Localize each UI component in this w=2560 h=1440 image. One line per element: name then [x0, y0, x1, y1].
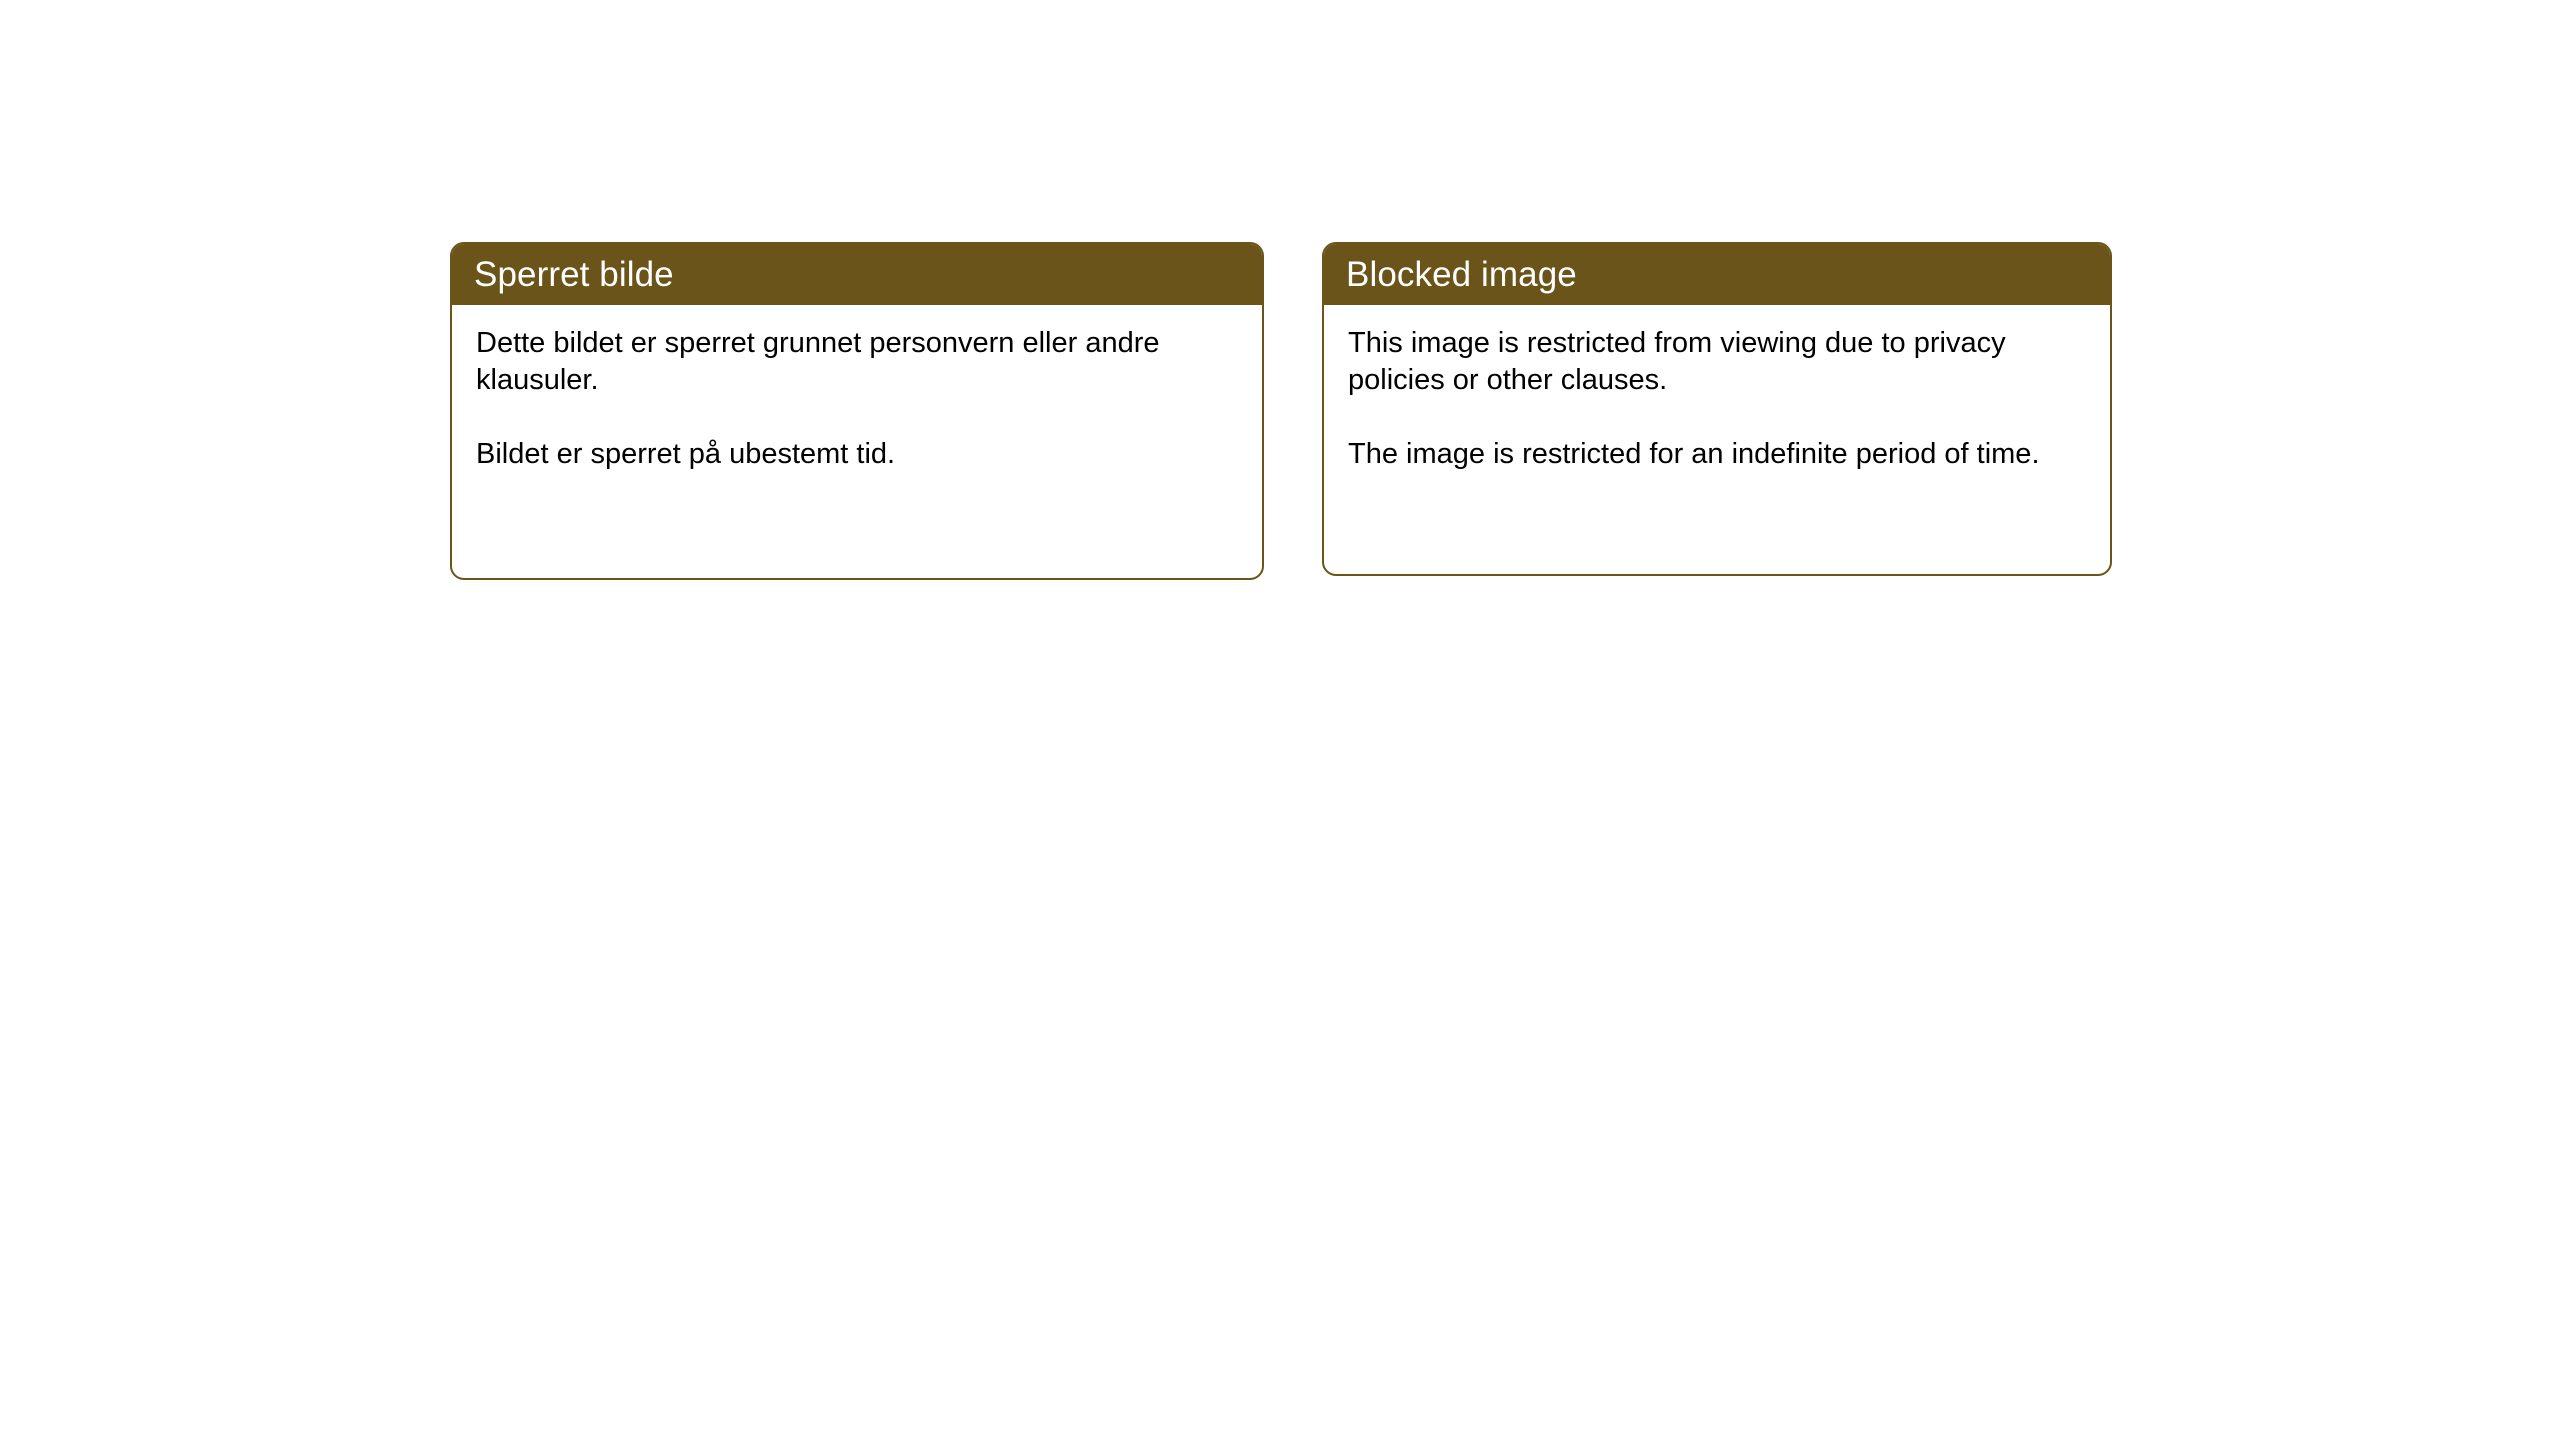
paragraph-spacer: [1348, 399, 2090, 436]
notice-title-english: Blocked image: [1346, 255, 1577, 295]
notice-paragraph-norwegian-1: Dette bildet er sperret grunnet personve…: [476, 325, 1242, 399]
notice-header-norwegian: Sperret bilde: [452, 244, 1262, 305]
paragraph-spacer: [476, 399, 1242, 436]
notice-title-norwegian: Sperret bilde: [474, 255, 674, 295]
notice-paragraph-norwegian-2: Bildet er sperret på ubestemt tid.: [476, 436, 1242, 473]
notice-paragraph-english-2: The image is restricted for an indefinit…: [1348, 436, 2090, 473]
notice-header-english: Blocked image: [1324, 244, 2110, 305]
notice-body-norwegian: Dette bildet er sperret grunnet personve…: [452, 305, 1262, 473]
blocked-image-notice-norwegian: Sperret bilde Dette bildet er sperret gr…: [450, 242, 1264, 580]
notice-body-english: This image is restricted from viewing du…: [1324, 305, 2110, 473]
blocked-image-notice-english: Blocked image This image is restricted f…: [1322, 242, 2112, 576]
blocked-image-notice-area: Sperret bilde Dette bildet er sperret gr…: [0, 0, 2560, 1440]
notice-paragraph-english-1: This image is restricted from viewing du…: [1348, 325, 2090, 399]
